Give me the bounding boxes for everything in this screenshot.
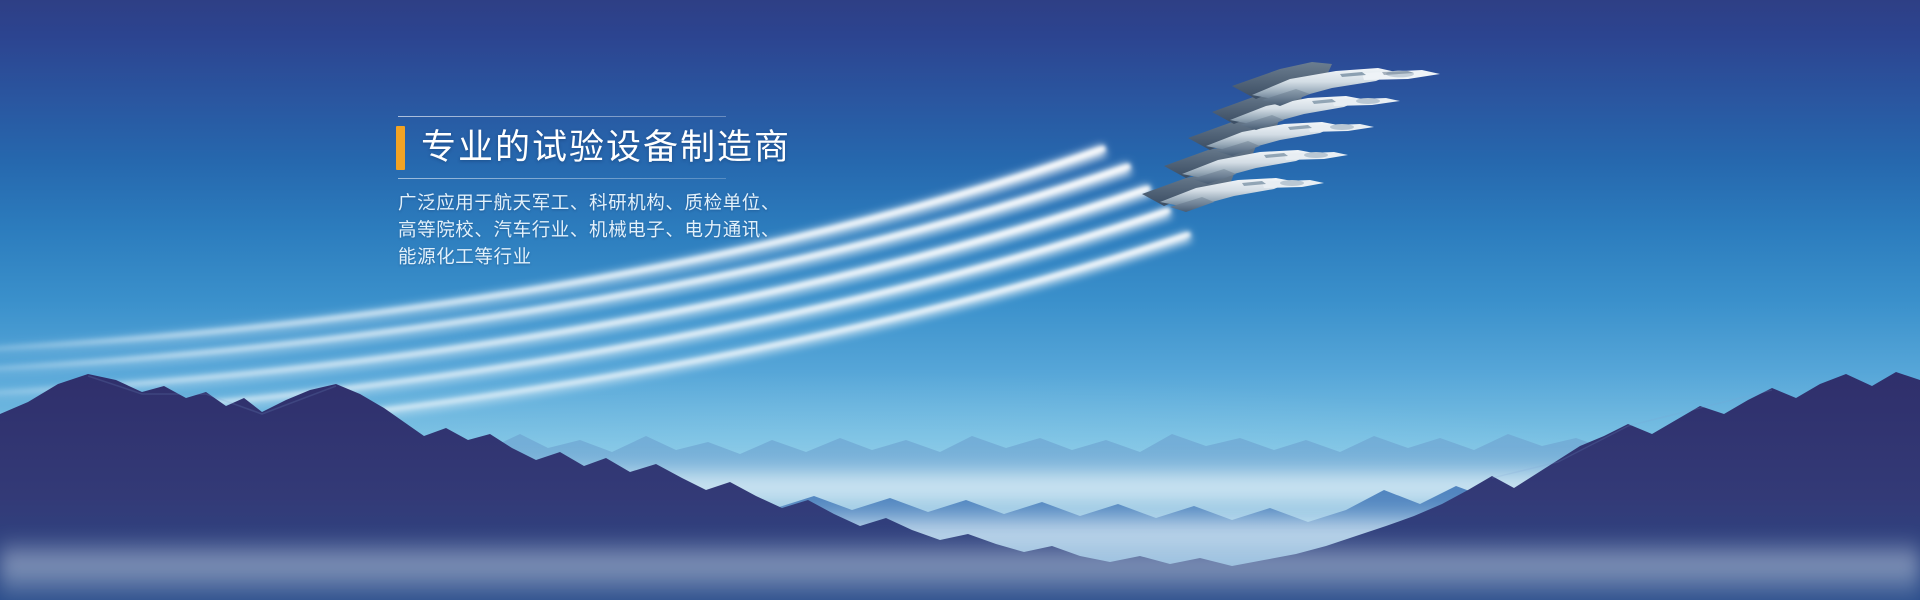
banner-description: 广泛应用于航天军工、科研机构、质检单位、 高等院校、汽车行业、机械电子、电力通讯… <box>398 190 816 271</box>
divider-bottom <box>398 178 726 179</box>
jet-aircraft <box>1142 172 1324 212</box>
description-line: 广泛应用于航天军工、科研机构、质检单位、 <box>398 190 816 217</box>
banner-copy: 专业的试验设备制造商 广泛应用于航天军工、科研机构、质检单位、 高等院校、汽车行… <box>396 116 816 271</box>
hero-banner: 专业的试验设备制造商 广泛应用于航天军工、科研机构、质检单位、 高等院校、汽车行… <box>0 0 1920 600</box>
headline-row: 专业的试验设备制造商 <box>396 126 816 170</box>
accent-bar <box>396 126 405 170</box>
mountain-range <box>0 340 1920 600</box>
jet-formation <box>1120 40 1520 280</box>
description-line: 能源化工等行业 <box>398 244 816 271</box>
mist-band <box>0 536 1920 600</box>
divider-top <box>398 116 726 117</box>
page-title: 专业的试验设备制造商 <box>421 126 791 170</box>
description-line: 高等院校、汽车行业、机械电子、电力通讯、 <box>398 217 816 244</box>
